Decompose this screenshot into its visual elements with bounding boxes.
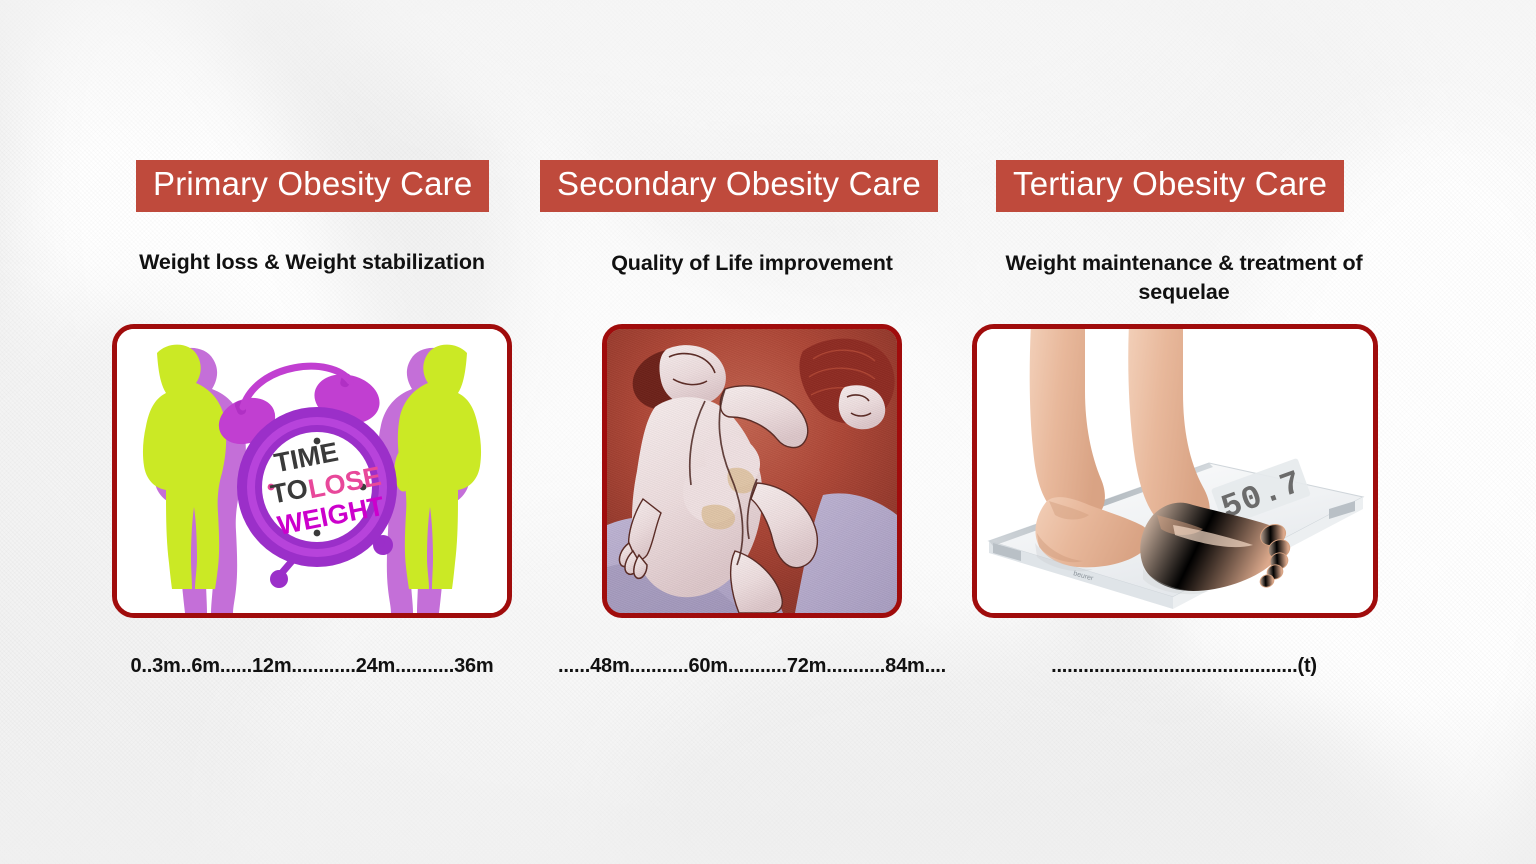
- column-tertiary-obesity-care: Tertiary Obesity Care Weight maintenance…: [968, 0, 1400, 864]
- banner-primary-obesity-care: Primary Obesity Care: [136, 160, 489, 212]
- image-card-tertiary: beurer 50.7: [972, 324, 1378, 618]
- column-secondary-obesity-care: Secondary Obesity Care Quality of Life i…: [528, 0, 976, 864]
- time-to-lose-weight-clock-image: TIME TO LOSE WEIGHT: [117, 329, 507, 613]
- subtitle-primary: Weight loss & Weight stabilization: [96, 248, 528, 277]
- image-card-primary: TIME TO LOSE WEIGHT: [112, 324, 512, 618]
- feet-on-bathroom-scale-image: beurer 50.7: [977, 329, 1373, 613]
- painting-texture-overlay: [607, 329, 897, 613]
- subtitle-secondary: Quality of Life improvement: [528, 249, 976, 278]
- timeline-primary: 0..3m..6m......12m............24m.......…: [96, 655, 528, 678]
- banner-tertiary-obesity-care: Tertiary Obesity Care: [996, 160, 1344, 212]
- timeline-tertiary: ........................................…: [968, 655, 1400, 678]
- timeline-secondary: ......48m...........60m...........72m...…: [528, 655, 976, 678]
- column-primary-obesity-care: Primary Obesity Care Weight loss & Weigh…: [96, 0, 528, 864]
- subtitle-tertiary: Weight maintenance & treatment of sequel…: [968, 249, 1400, 306]
- banner-secondary-obesity-care: Secondary Obesity Care: [540, 160, 938, 212]
- clock-and-silhouettes-graphic: TIME TO LOSE WEIGHT: [117, 329, 507, 613]
- reclining-figure-painting-image: [607, 329, 897, 613]
- image-card-secondary: [602, 324, 902, 618]
- scale-and-feet-graphic: beurer 50.7: [977, 329, 1373, 613]
